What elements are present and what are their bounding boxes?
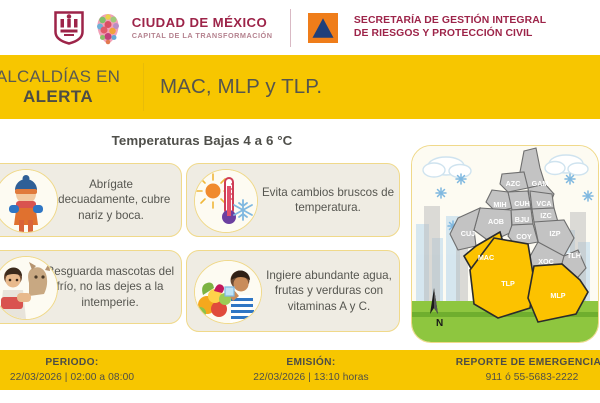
map-label-TLP: TLP [501, 279, 515, 288]
alert-label-line-2: ALERTA [23, 87, 93, 107]
agency-line-1: SECRETARÍA DE GESTIÓN INTEGRAL [354, 15, 546, 27]
alert-label-line-1: ALCALDÍAS EN [0, 67, 120, 87]
footer-emision-value: 22/03/2026 | 13:10 horas [253, 371, 369, 384]
map-graphic: AZC GAM MIH CUH VCA IZC BJU AOB CUJ COY … [412, 146, 598, 342]
agency-wordmark: SECRETARÍA DE GESTIÓN INTEGRAL DE RIESGO… [354, 15, 546, 40]
map-label-GAM: GAM [532, 179, 549, 188]
alert-bulletin-page: CIUDAD DE MÉXICO CAPITAL DE LA TRANSFORM… [0, 0, 600, 403]
footer-reporte-label: REPORTE DE EMERGENCIAS [456, 356, 600, 369]
alert-banner: ALCALDÍAS EN ALERTA MAC, MLP y TLP. [0, 55, 600, 119]
footer-reporte: REPORTE DE EMERGENCIAS 911 ó 55-5683-222… [432, 350, 600, 390]
alert-vertical-divider [143, 63, 144, 111]
header-bar: CIUDAD DE MÉXICO CAPITAL DE LA TRANSFORM… [0, 0, 600, 55]
map-label-MAC: MAC [478, 253, 494, 262]
footer-periodo: PERIODO: 22/03/2026 | 02:00 a 08:00 [0, 350, 192, 390]
map-label-IZC: IZC [540, 211, 552, 220]
cdmx-wordmark: CIUDAD DE MÉXICO CAPITAL DE LA TRANSFORM… [132, 16, 273, 39]
svg-text:N: N [436, 318, 443, 329]
footer-whitespace [0, 390, 600, 403]
footer-periodo-label: PERIODO: [45, 356, 98, 369]
footer-emision: EMISIÓN: 22/03/2026 | 13:10 horas [216, 350, 406, 390]
map-label-XOC: XOC [538, 257, 554, 266]
map-label-MLP: MLP [550, 291, 565, 300]
alert-label-block: ALCALDÍAS EN ALERTA [0, 55, 142, 119]
recommendation-text: Abrígate adecuadamente, cubre nariz y bo… [45, 164, 177, 236]
footer-emision-label: EMISIÓN: [286, 356, 335, 369]
map-label-VCA: VCA [536, 199, 551, 208]
cdmx-title: CIUDAD DE MÉXICO [132, 16, 273, 29]
temperature-headline: Temperaturas Bajas 4 a 6 °C [0, 133, 404, 148]
footer-periodo-value: 22/03/2026 | 02:00 a 08:00 [10, 371, 134, 384]
map-label-BJU: BJU [515, 215, 529, 224]
cdmx-subtitle: CAPITAL DE LA TRANSFORMACIÓN [132, 32, 273, 39]
map-label-COY: COY [516, 232, 532, 241]
map-label-TLH: TLH [567, 251, 581, 260]
map-label-IZP: IZP [549, 229, 560, 238]
cdmx-coat-of-arms-icon [54, 11, 84, 45]
civil-protection-triangle-icon [308, 13, 338, 43]
alert-alcaldias-block: MAC, MLP y TLP. [160, 55, 322, 119]
content-area: Temperaturas Bajas 4 a 6 °C Abrígate ade… [0, 119, 600, 350]
map-label-CUH: CUH [514, 199, 530, 208]
footer-bar: PERIODO: 22/03/2026 | 02:00 a 08:00 EMIS… [0, 350, 600, 390]
alert-alcaldias-list: MAC, MLP y TLP. [160, 75, 322, 99]
header-divider [290, 9, 291, 47]
map-label-AZC: AZC [506, 179, 521, 188]
footer-reporte-value: 911 ó 55-5683-2222 [486, 371, 579, 384]
cdmx-alert-map: AZC GAM MIH CUH VCA IZC BJU AOB CUJ COY … [411, 145, 599, 343]
person-drinking-water-fruits-icon [194, 260, 262, 324]
map-label-CUJ: CUJ [461, 229, 475, 238]
agency-line-2: DE RIESGOS Y PROTECCIÓN CIVIL [354, 28, 546, 40]
recommendation-text: Ingiere abundante agua, frutas y verdura… [261, 251, 397, 331]
recommendation-text: Evita cambios bruscos de temperatura. [261, 164, 395, 236]
map-label-MIH: MIH [493, 200, 506, 209]
map-label-AOB: AOB [488, 217, 504, 226]
thermometer-sun-snowflake-icon [194, 169, 258, 233]
cdmx-floral-heart-icon [93, 10, 123, 46]
recommendation-text: Resguarda mascotas del frío, no las deje… [41, 251, 179, 323]
